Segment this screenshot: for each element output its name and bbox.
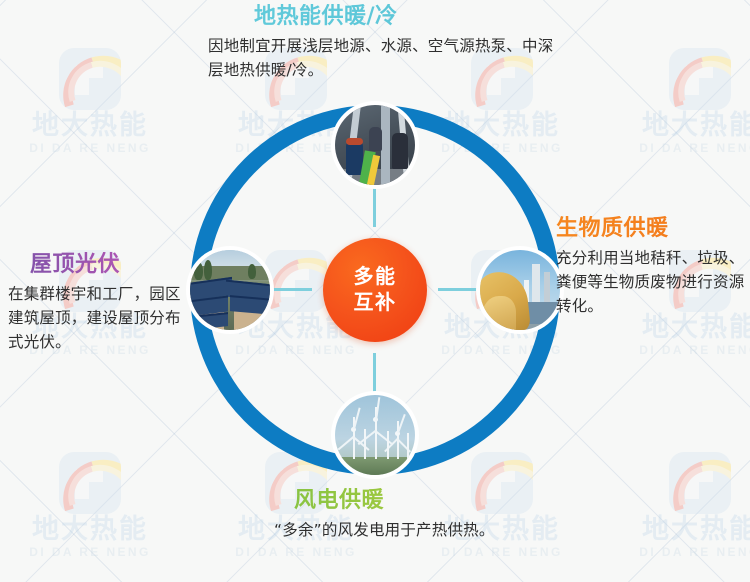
body-biomass: 充分利用当地秸秆、垃圾、粪便等生物质废物进行资源转化。 (556, 246, 750, 318)
watermark-brand-cn: 地大热能 (600, 516, 750, 544)
node-geothermal[interactable] (331, 101, 419, 189)
center-hub-line2: 互补 (354, 290, 397, 316)
text-block-biomass: 生物质供暖 充分利用当地秸秆、垃圾、粪便等生物质废物进行资源转化。 (556, 216, 750, 318)
title-geothermal: 地热能供暖/冷 (196, 4, 566, 30)
watermark-brand-cn: 地大热能 (0, 516, 190, 544)
geothermal-plant-photo (335, 105, 415, 185)
multi-energy-wheel-diagram: 多能 互补 (190, 105, 560, 475)
watermark-tile: 地大热能 DI DA RE NENG (0, 48, 190, 155)
title-solar: 屋顶光伏 (8, 252, 186, 278)
center-hub: 多能 互补 (323, 238, 427, 342)
text-block-wind: 风电供暖 “多余”的风发电用于产热供热。 (238, 488, 538, 542)
rooftop-solar-photo (190, 250, 270, 330)
body-wind: “多余”的风发电用于产热供热。 (238, 518, 538, 542)
watermark-brand-en: DI DA RE NENG (196, 545, 396, 559)
watermark-tile: 地大热能 DI DA RE NENG (600, 452, 750, 559)
watermark-brand-en: DI DA RE NENG (0, 141, 190, 155)
brand-logo-icon (669, 48, 731, 110)
brand-logo-icon (669, 452, 731, 514)
title-wind: 风电供暖 (238, 488, 538, 514)
watermark-tile: 地大热能 DI DA RE NENG (0, 452, 190, 559)
center-hub-line1: 多能 (354, 264, 397, 290)
infographic-canvas: 地大热能 DI DA RE NENG 地大热能 DI DA RE NENG 地大… (0, 0, 750, 582)
watermark-brand-en: DI DA RE NENG (600, 141, 750, 155)
node-wind[interactable] (331, 391, 419, 479)
wind-turbines-photo (335, 395, 415, 475)
watermark-brand-en: DI DA RE NENG (600, 343, 750, 357)
watermark-brand-en: DI DA RE NENG (600, 545, 750, 559)
brand-logo-icon (59, 452, 121, 514)
title-biomass: 生物质供暖 (556, 216, 750, 242)
watermark-brand-en: DI DA RE NENG (402, 545, 602, 559)
watermark-tile: 地大热能 DI DA RE NENG (600, 48, 750, 155)
text-block-geothermal: 地热能供暖/冷 因地制宜开展浅层地源、水源、空气源热泵、中深层地热供暖/冷。 (196, 4, 566, 82)
body-geothermal: 因地制宜开展浅层地源、水源、空气源热泵、中深层地热供暖/冷。 (196, 34, 566, 82)
watermark-brand-cn: 地大热能 (600, 112, 750, 140)
watermark-brand-en: DI DA RE NENG (0, 545, 190, 559)
biomass-straw-photo (480, 250, 560, 330)
text-block-solar: 屋顶光伏 在集群楼宇和工厂，园区建筑屋顶，建设屋顶分布式光伏。 (8, 252, 186, 354)
node-solar[interactable] (186, 246, 274, 334)
brand-logo-icon (59, 48, 121, 110)
watermark-brand-cn: 地大热能 (0, 112, 190, 140)
body-solar: 在集群楼宇和工厂，园区建筑屋顶，建设屋顶分布式光伏。 (8, 282, 186, 354)
node-biomass[interactable] (476, 246, 564, 334)
